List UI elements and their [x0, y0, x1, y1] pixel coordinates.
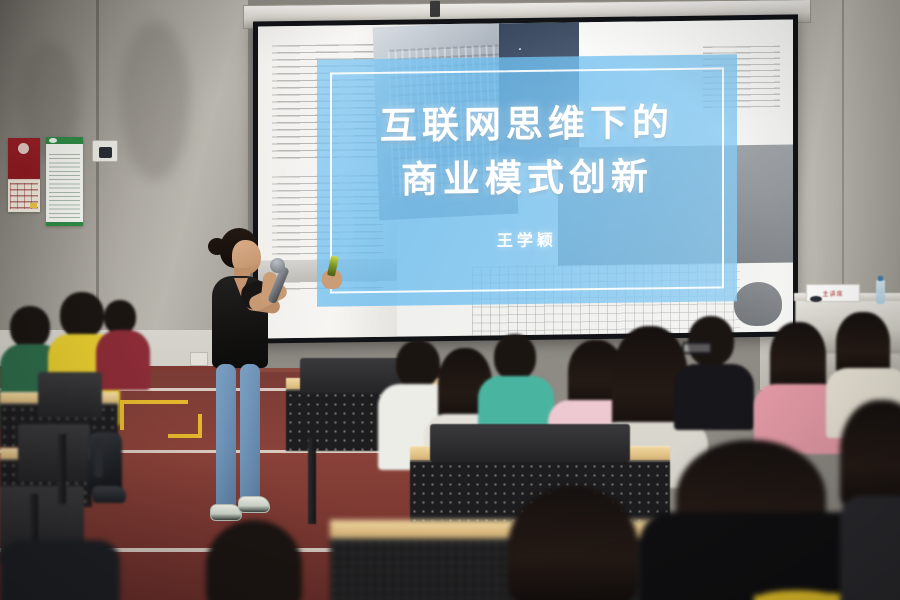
- slide-title-line-1: 互联网思维下的: [317, 95, 737, 154]
- backpack-strap: [94, 438, 103, 478]
- student-body: [0, 540, 120, 600]
- water-bottle: [876, 280, 885, 304]
- screen-bracket-icon: [430, 1, 440, 17]
- student-head: [494, 334, 536, 380]
- chair-back[interactable]: [38, 372, 102, 418]
- desk-leg: [308, 438, 316, 524]
- student-head: [206, 520, 302, 600]
- screen-surface: DELL 互联网思维下的 商业模式创新 王学颖: [258, 19, 793, 338]
- poster-red: [8, 138, 40, 212]
- glasses-icon: [682, 342, 712, 354]
- student-body: [96, 330, 150, 390]
- wall-seam: [842, 0, 844, 330]
- student-head: [104, 300, 136, 334]
- student-foreground-left: [186, 520, 326, 600]
- bottle-cap-icon: [878, 276, 883, 281]
- presenter-leg-left: [216, 364, 236, 510]
- student-head: [688, 316, 734, 366]
- poster-highlight-cell: [30, 203, 37, 208]
- presenter-leg-right: [240, 364, 260, 506]
- student-maroon-shirt: [96, 300, 146, 380]
- slide-text-block: 互联网思维下的 商业模式创新 王学颖: [317, 95, 737, 254]
- student-body: [674, 364, 754, 430]
- student-head: [10, 306, 50, 348]
- student-foreground-right: [840, 400, 900, 600]
- student-body: [840, 496, 900, 600]
- slide-title-line-2: 商业模式创新: [317, 149, 737, 208]
- slide-title-panel: 互联网思维下的 商业模式创新 王学颖: [317, 55, 737, 307]
- emblem-icon: [18, 143, 29, 154]
- presenter-shoe-right: [238, 496, 270, 513]
- student-glasses-black-tee: [674, 316, 750, 422]
- wall-speaker-icon: [92, 140, 118, 162]
- speaker-grill-icon: [99, 147, 112, 158]
- student-hair: [508, 486, 638, 600]
- student-hair: [840, 400, 900, 510]
- lectern-sign-text: 主讲席: [822, 289, 843, 298]
- lecture-hall-scene: DELL 互联网思维下的 商业模式创新 王学颖 主讲席: [0, 0, 900, 600]
- chair-back[interactable]: [430, 424, 630, 462]
- presenter-legs: [216, 364, 264, 510]
- chair-back[interactable]: [18, 424, 90, 482]
- projection-screen[interactable]: DELL 互联网思维下的 商业模式创新 王学颖: [253, 14, 798, 343]
- star-icon: [519, 48, 521, 50]
- microphone-base: [810, 296, 822, 302]
- poster-body-text: [49, 154, 80, 218]
- wall-stain: [120, 20, 190, 180]
- poster-header-logo-icon: [49, 138, 57, 143]
- student-shoe: [92, 486, 126, 503]
- desk-leg: [58, 434, 66, 504]
- poster-green: [46, 137, 83, 226]
- student-foreground-far-left: [0, 540, 120, 600]
- student-foreground-center: [500, 486, 650, 600]
